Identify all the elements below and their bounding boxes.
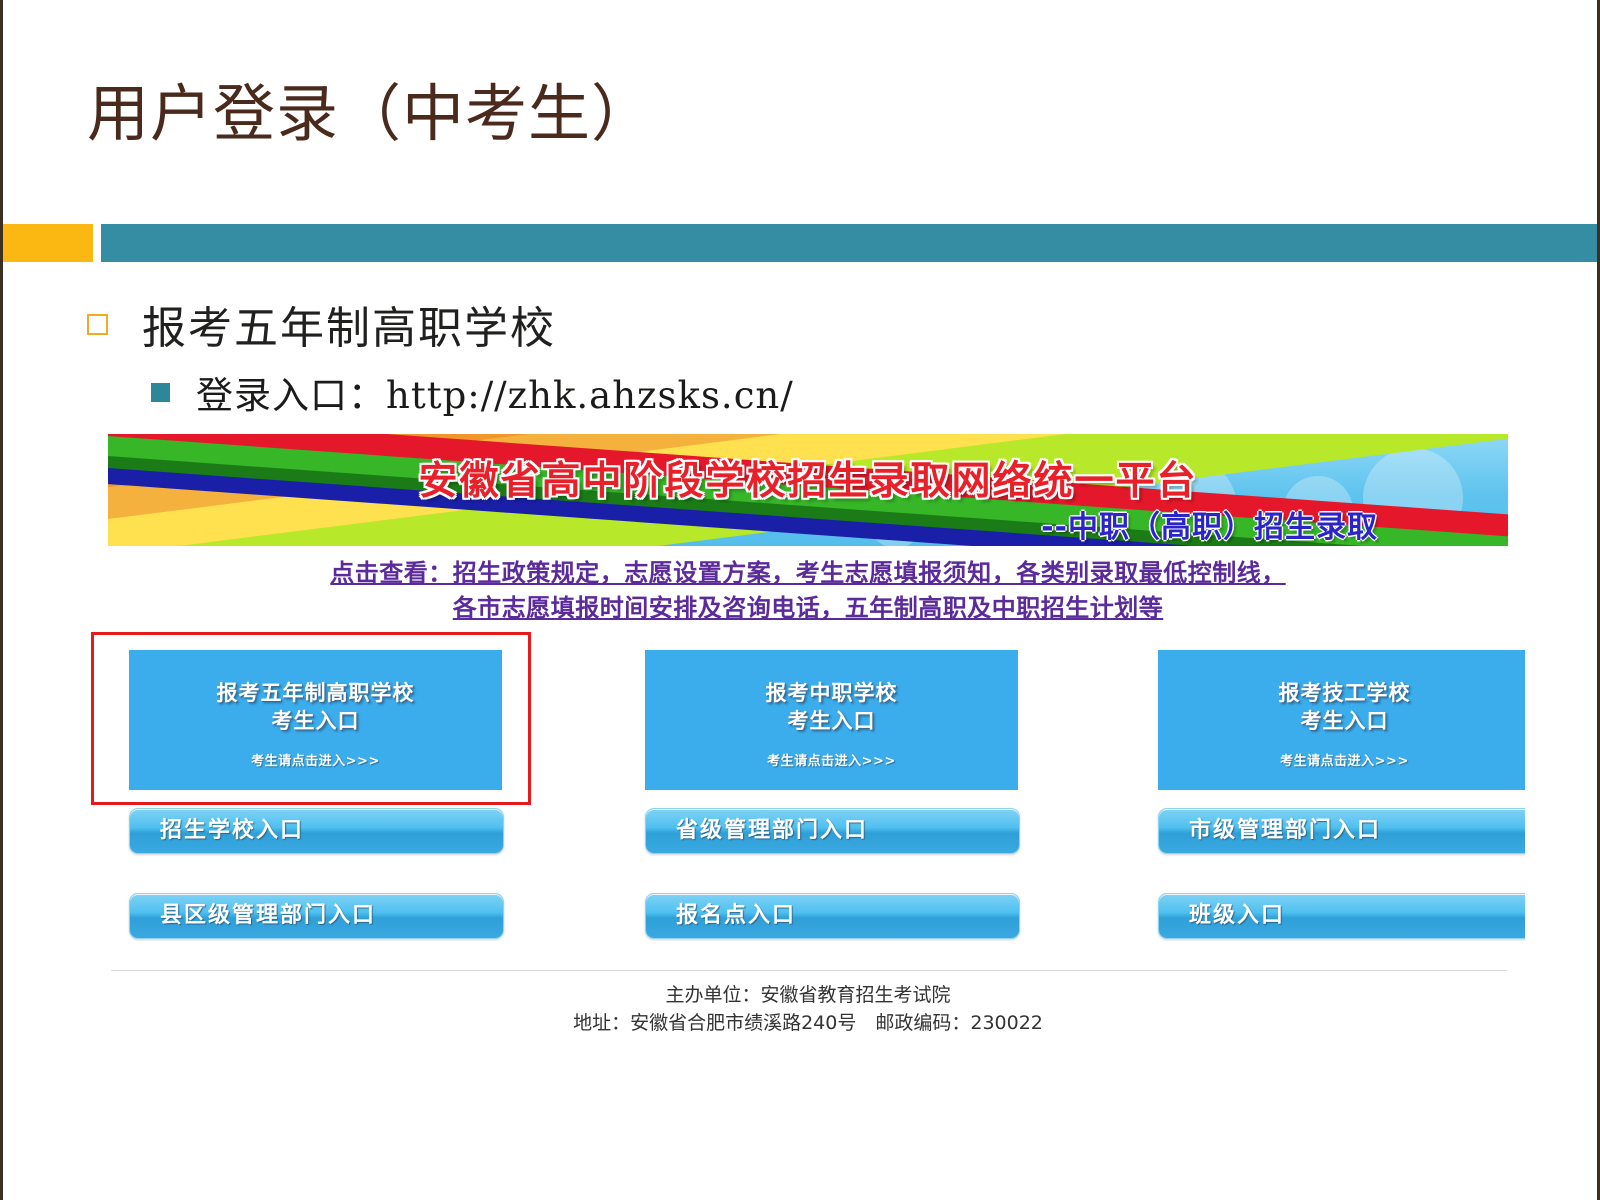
entry-card-title: 报考中职学校 考生入口 <box>645 679 1018 736</box>
bullet-item-2: 登录入口：http://zhk.ahzsks.cn/ <box>151 365 794 419</box>
banner-subtitle: --中职（高职）招生录取 <box>1041 502 1378 546</box>
button-admission-school-entry[interactable]: 招生学校入口 <box>129 808 504 854</box>
button-label: 报名点入口 <box>676 894 796 938</box>
footer-divider <box>111 970 1507 971</box>
site-footer: 主办单位：安徽省教育招生考试院 地址：安徽省合肥市绩溪路240号 邮政编码：23… <box>108 982 1508 1037</box>
separator-orange-block <box>3 224 93 262</box>
entry-card-title: 报考技工学校 考生入口 <box>1158 679 1525 736</box>
embedded-website-screenshot: 安徽省高中阶段学校招生录取网络统一平台 --中职（高职）招生录取 点击查看：招生… <box>25 434 1525 1053</box>
page-title: 用户登录（中考生） <box>87 78 654 149</box>
button-class-entry[interactable]: 班级入口 <box>1158 893 1525 939</box>
entry-card-technical-school[interactable]: 报考技工学校 考生入口 考生请点击进入>>> <box>1158 650 1525 790</box>
entry-card-subtitle: 考生请点击进入>>> <box>645 750 1018 769</box>
solid-square-icon <box>151 383 170 402</box>
button-label: 班级入口 <box>1189 894 1285 938</box>
button-municipal-admin-entry[interactable]: 市级管理部门入口 <box>1158 808 1525 854</box>
button-label: 县区级管理部门入口 <box>160 894 376 938</box>
entry-card-subtitle: 考生请点击进入>>> <box>1158 750 1525 769</box>
notice-line-1[interactable]: 点击查看：招生政策规定，志愿设置方案，考生志愿填报须知，各类别录取最低控制线， <box>108 556 1508 591</box>
entry-card-title-line1: 报考技工学校 <box>1279 681 1411 705</box>
notice-line-2[interactable]: 各市志愿填报时间安排及咨询电话，五年制高职及中职招生计划等 <box>108 591 1508 626</box>
bullet-item-2-label: 登录入口：http://zhk.ahzsks.cn/ <box>196 365 794 419</box>
hollow-square-icon <box>87 314 108 335</box>
site-banner: 安徽省高中阶段学校招生录取网络统一平台 --中职（高职）招生录取 <box>108 434 1508 546</box>
notice-links[interactable]: 点击查看：招生政策规定，志愿设置方案，考生志愿填报须知，各类别录取最低控制线， … <box>108 556 1508 626</box>
footer-organizer: 主办单位：安徽省教育招生考试院 <box>108 982 1508 1010</box>
entry-card-title-line2: 考生入口 <box>1301 709 1389 733</box>
entry-card-secondary-vocational[interactable]: 报考中职学校 考生入口 考生请点击进入>>> <box>645 650 1018 790</box>
button-county-admin-entry[interactable]: 县区级管理部门入口 <box>129 893 504 939</box>
banner-title: 安徽省高中阶段学校招生录取网络统一平台 <box>108 450 1508 506</box>
bullet-item-1-label: 报考五年制高职学校 <box>142 292 556 356</box>
entry-card-title-line1: 报考中职学校 <box>766 681 898 705</box>
footer-address: 地址：安徽省合肥市绩溪路240号 邮政编码：230022 <box>108 1010 1508 1038</box>
separator-teal-bar <box>101 224 1597 262</box>
button-label: 省级管理部门入口 <box>676 809 868 853</box>
bullet-item-1: 报考五年制高职学校 <box>87 292 556 356</box>
button-label: 市级管理部门入口 <box>1189 809 1381 853</box>
button-provincial-admin-entry[interactable]: 省级管理部门入口 <box>645 808 1020 854</box>
slide-canvas: 用户登录（中考生） 报考五年制高职学校 登录入口：http://zhk.ahzs… <box>0 0 1600 1200</box>
button-registration-point-entry[interactable]: 报名点入口 <box>645 893 1020 939</box>
red-highlight-box <box>91 632 531 805</box>
button-label: 招生学校入口 <box>160 809 304 853</box>
entry-card-title-line2: 考生入口 <box>788 709 876 733</box>
